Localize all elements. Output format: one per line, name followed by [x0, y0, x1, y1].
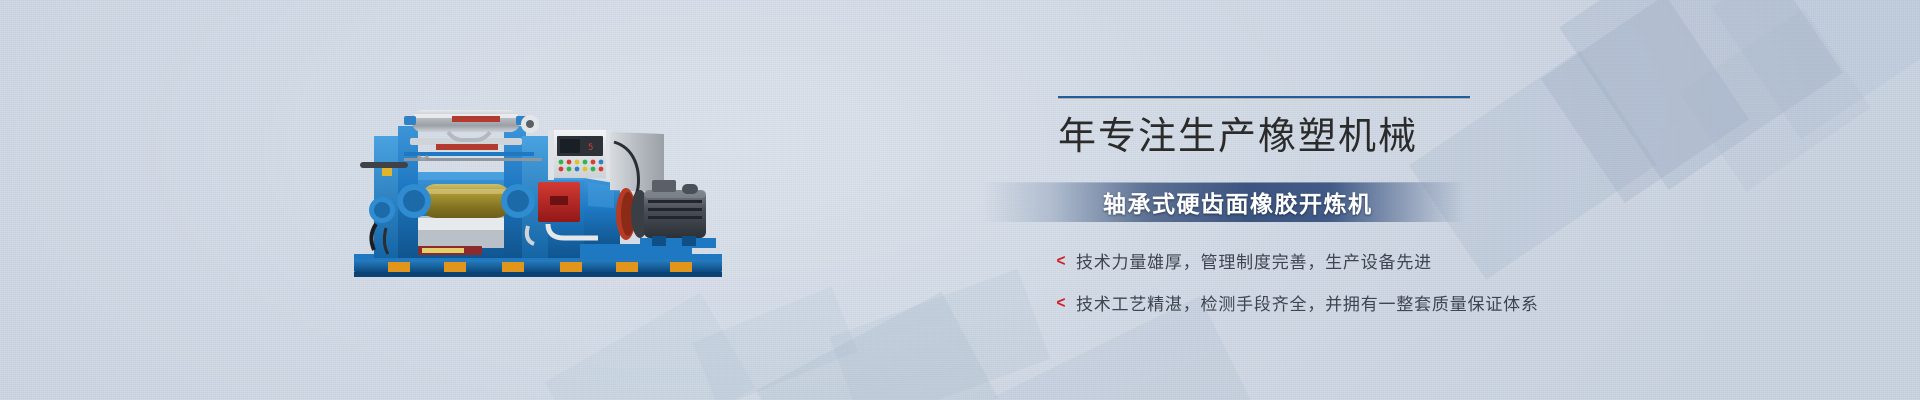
decorative-shape-7	[830, 269, 1051, 400]
title-divider	[1058, 96, 1470, 99]
decorative-shape-6	[756, 292, 998, 400]
page-title: 年专注生产橡塑机械	[1058, 113, 1618, 161]
decorative-shape-3	[1409, 50, 1657, 280]
chevron-left-icon: <	[1056, 252, 1065, 269]
background-texture	[0, 0, 1920, 400]
decorative-shape-5	[1712, 0, 1920, 139]
feature-list: < 技术力量雄厚，管理制度完善，生产设备先进 < 技术工艺精湛，检测手段齐全，并…	[1056, 248, 1539, 332]
decorative-shape-1	[1559, 0, 1843, 190]
feature-item-1: < 技术力量雄厚，管理制度完善，生产设备先进	[1056, 248, 1539, 273]
decorative-shape-10	[692, 286, 857, 400]
feature-text-1: 技术力量雄厚，管理制度完善，生产设备先进	[1076, 248, 1432, 273]
decorative-shape-4	[1679, 8, 1870, 191]
machine-illustration: 5	[352, 96, 724, 286]
rubber-mixing-mill-photo: 5	[352, 96, 724, 286]
subtitle-banner: 轴承式硬齿面橡胶开炼机	[983, 182, 1465, 222]
feature-text-2: 技术工艺精湛，检测手段齐全，并拥有一整套质量保证体系	[1076, 290, 1539, 315]
svg-text:5: 5	[588, 143, 593, 153]
subtitle-text: 轴承式硬齿面橡胶开炼机	[1103, 185, 1373, 219]
decorative-shape-9	[545, 292, 756, 400]
feature-item-2: < 技术工艺精湛，检测手段齐全，并拥有一整套质量保证体系	[1056, 290, 1539, 315]
hero-banner: 5	[0, 0, 1920, 400]
hero-content: 年专注生产橡塑机械 轴承式硬齿面橡胶开炼机 < 技术力量雄厚，管理制度完善，生产…	[1058, 96, 1618, 161]
chevron-left-icon: <	[1056, 294, 1065, 311]
